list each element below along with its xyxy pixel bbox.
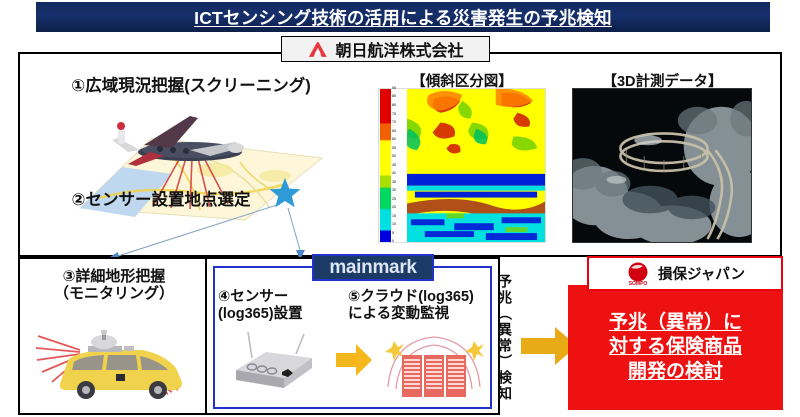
legend-tick: 5	[392, 232, 394, 236]
legend-tick: 10	[392, 223, 396, 227]
page-title: ICTセンシング技術の活用による災害発生の予兆検知	[194, 5, 612, 30]
mainmark-badge: mainmark	[312, 254, 434, 281]
point-cloud-image-icon	[573, 89, 751, 242]
slide-root: ICTセンシング技術の活用による災害発生の予兆検知 朝日航洋株式会社 ①広域現況…	[0, 0, 800, 417]
legend-tick: 20	[392, 206, 396, 210]
svg-text:SOMPO: SOMPO	[629, 281, 648, 287]
sompo-badge: SOMPO 損保ジャパン	[587, 256, 783, 291]
step3-label-line1: ③詳細地形把握	[20, 268, 208, 285]
step4-label-line1: ④センサー	[218, 289, 343, 306]
sompo-badge-label: 損保ジャパン	[658, 263, 745, 284]
sompo-message-box: 予兆（異常）に 対する保険商品 開発の検討	[568, 285, 783, 410]
mainmark-badge-label: mainmark	[329, 257, 416, 279]
legend-color-bar	[380, 89, 391, 242]
legend-tick: 25	[392, 198, 396, 202]
legend-tick: 15	[392, 215, 396, 219]
yellow-right-arrow-icon	[334, 340, 374, 380]
blue-star-marker-icon	[268, 176, 302, 210]
asahi-koyo-badge-label: 朝日航洋株式会社	[335, 37, 463, 61]
sensor-device-icon	[226, 332, 322, 394]
legend-tick: 55	[392, 147, 396, 151]
legend-tick: 60	[392, 138, 396, 142]
sompo-red-circle-logo-icon: SOMPO	[625, 261, 651, 287]
d3-pointcloud-figure	[572, 88, 752, 243]
legend-tick: 65	[392, 130, 396, 134]
step5-label-line2: による変動監視	[348, 306, 498, 323]
step2-label: ②センサー設置地点選定	[26, 186, 296, 210]
sompo-message: 予兆（異常）に 対する保険商品 開発の検討	[609, 311, 742, 384]
mobile-mapping-vehicle-icon	[32, 330, 197, 408]
legend-tick: 35	[392, 181, 396, 185]
slide-title-bar: ICTセンシング技術の活用による災害発生の予兆検知	[36, 2, 770, 32]
detection-vertical-label: 予兆（異常）検知	[494, 262, 516, 414]
legend-tick: 70	[392, 121, 396, 125]
server-rack-icon	[382, 325, 486, 401]
step3-label: ③詳細地形把握 （モニタリング）	[20, 268, 208, 303]
legend-tick-labels: 908580757065605550454035302520151050	[392, 89, 407, 242]
legend-tick: 90	[392, 87, 396, 91]
legend-tick: 85	[392, 96, 396, 100]
slope-map-legend: 908580757065605550454035302520151050	[379, 89, 407, 242]
red-triangle-logo-icon	[307, 41, 329, 58]
step1-label: ①広域現況把握(スクリーニング)	[26, 72, 356, 96]
asahi-koyo-badge: 朝日航洋株式会社	[281, 36, 490, 62]
step5-label: ⑤クラウド(log365) による変動監視	[348, 289, 498, 324]
step3-label-line2: （モニタリング）	[20, 285, 208, 302]
step4-label: ④センサー (log365)設置	[218, 289, 343, 324]
legend-tick: 40	[392, 172, 396, 176]
legend-tick: 80	[392, 104, 396, 108]
legend-tick: 30	[392, 189, 396, 193]
slope-map-figure: 908580757065605550454035302520151050	[378, 88, 546, 243]
step5-label-line1: ⑤クラウド(log365)	[348, 289, 498, 306]
slope-map-image	[407, 89, 545, 242]
server-cabinets	[402, 355, 466, 397]
step4-label-line2: (log365)設置	[218, 306, 343, 323]
legend-tick: 75	[392, 113, 396, 117]
survey-van-icon	[60, 330, 182, 399]
legend-tick: 0	[392, 240, 394, 244]
legend-tick: 45	[392, 164, 396, 168]
legend-tick: 50	[392, 155, 396, 159]
